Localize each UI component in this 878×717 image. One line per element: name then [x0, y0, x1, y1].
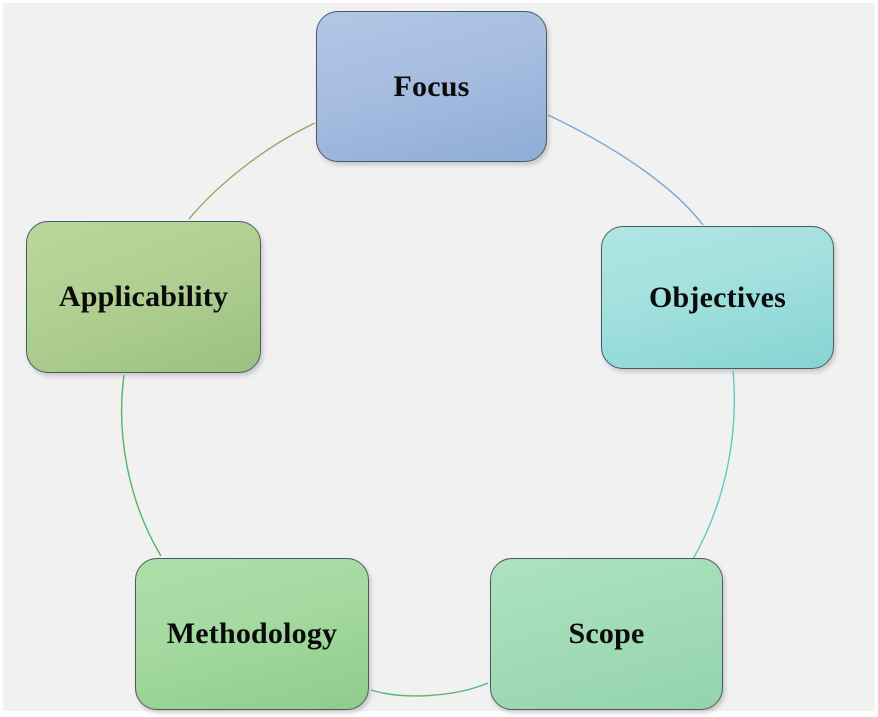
- node-scope-label: Scope: [569, 619, 645, 649]
- connector-objectives-to-scope: [693, 371, 734, 559]
- node-scope[interactable]: Scope: [490, 558, 723, 710]
- node-applicability-label: Applicability: [59, 282, 228, 312]
- node-focus[interactable]: Focus: [316, 11, 547, 162]
- connector-methodology-to-applicability: [122, 375, 161, 556]
- node-objectives-label: Objectives: [649, 283, 786, 313]
- diagram-canvas: Focus Objectives Scope Methodology Appli…: [0, 0, 878, 714]
- connector-focus-to-objectives: [548, 115, 703, 225]
- connector-scope-to-methodology: [371, 683, 488, 696]
- node-methodology-label: Methodology: [167, 619, 338, 649]
- node-focus-label: Focus: [394, 72, 470, 102]
- connector-applicability-to-focus: [189, 123, 315, 219]
- node-applicability[interactable]: Applicability: [26, 221, 261, 373]
- node-objectives[interactable]: Objectives: [601, 226, 834, 369]
- node-methodology[interactable]: Methodology: [135, 558, 369, 710]
